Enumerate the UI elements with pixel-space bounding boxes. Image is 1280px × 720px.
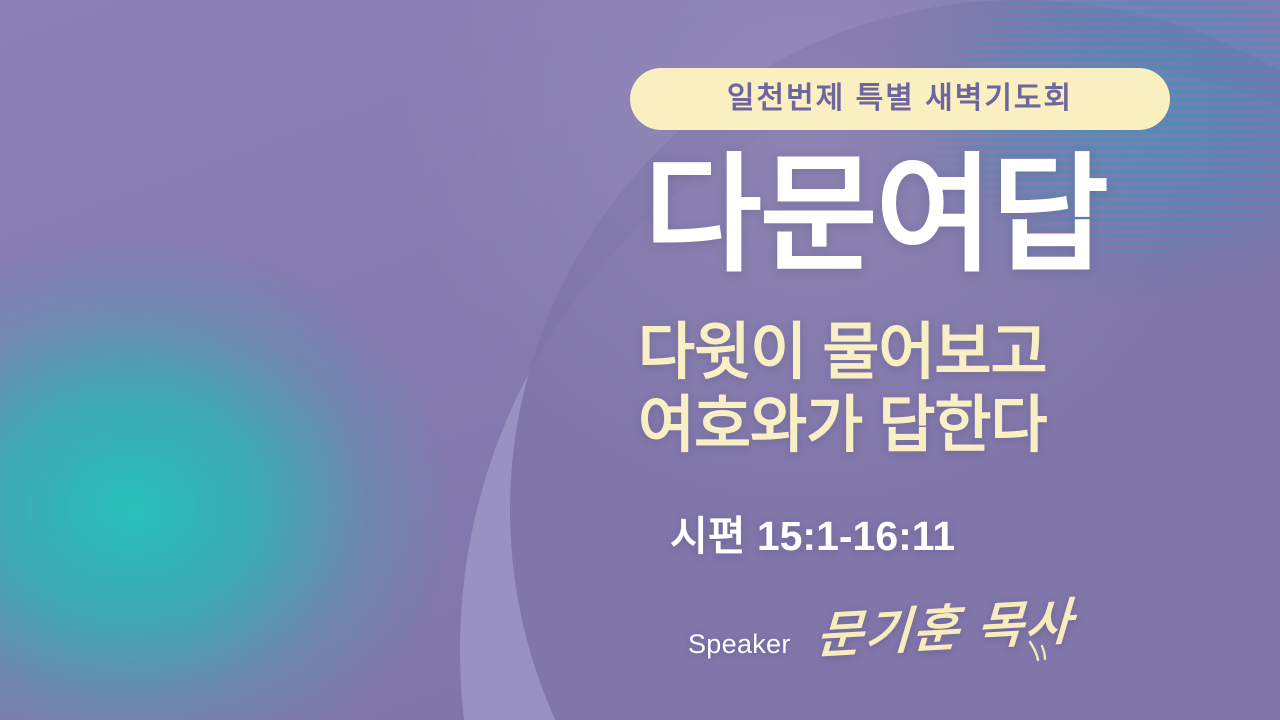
event-badge: 일천번제 특별 새벽기도회 bbox=[630, 68, 1170, 130]
subtitle-line-1: 다윗이 물어보고 bbox=[638, 318, 1047, 387]
speaker-label: Speaker bbox=[688, 629, 791, 660]
poster-text-content: 일천번제 특별 새벽기도회 다문여답 다윗이 물어보고 여호와가 답한다 시편 … bbox=[628, 0, 1188, 720]
speaker-name: 문기훈 목사 bbox=[815, 582, 1076, 668]
subtitle: 다윗이 물어보고 여호와가 답한다 bbox=[638, 318, 1047, 461]
event-badge-label: 일천번제 특별 새벽기도회 bbox=[727, 84, 1073, 114]
speaker-row: Speaker 문기훈 목사 bbox=[688, 596, 1071, 668]
speaker-portrait-photo bbox=[0, 0, 660, 720]
subtitle-line-2: 여호와가 답한다 bbox=[638, 391, 1047, 460]
page-title: 다문여답 bbox=[644, 152, 1107, 280]
scripture-reference: 시편 15:1-16:11 bbox=[670, 502, 955, 562]
sermon-thumbnail-poster: 일천번제 특별 새벽기도회 다문여답 다윗이 물어보고 여호와가 답한다 시편 … bbox=[0, 0, 1280, 720]
